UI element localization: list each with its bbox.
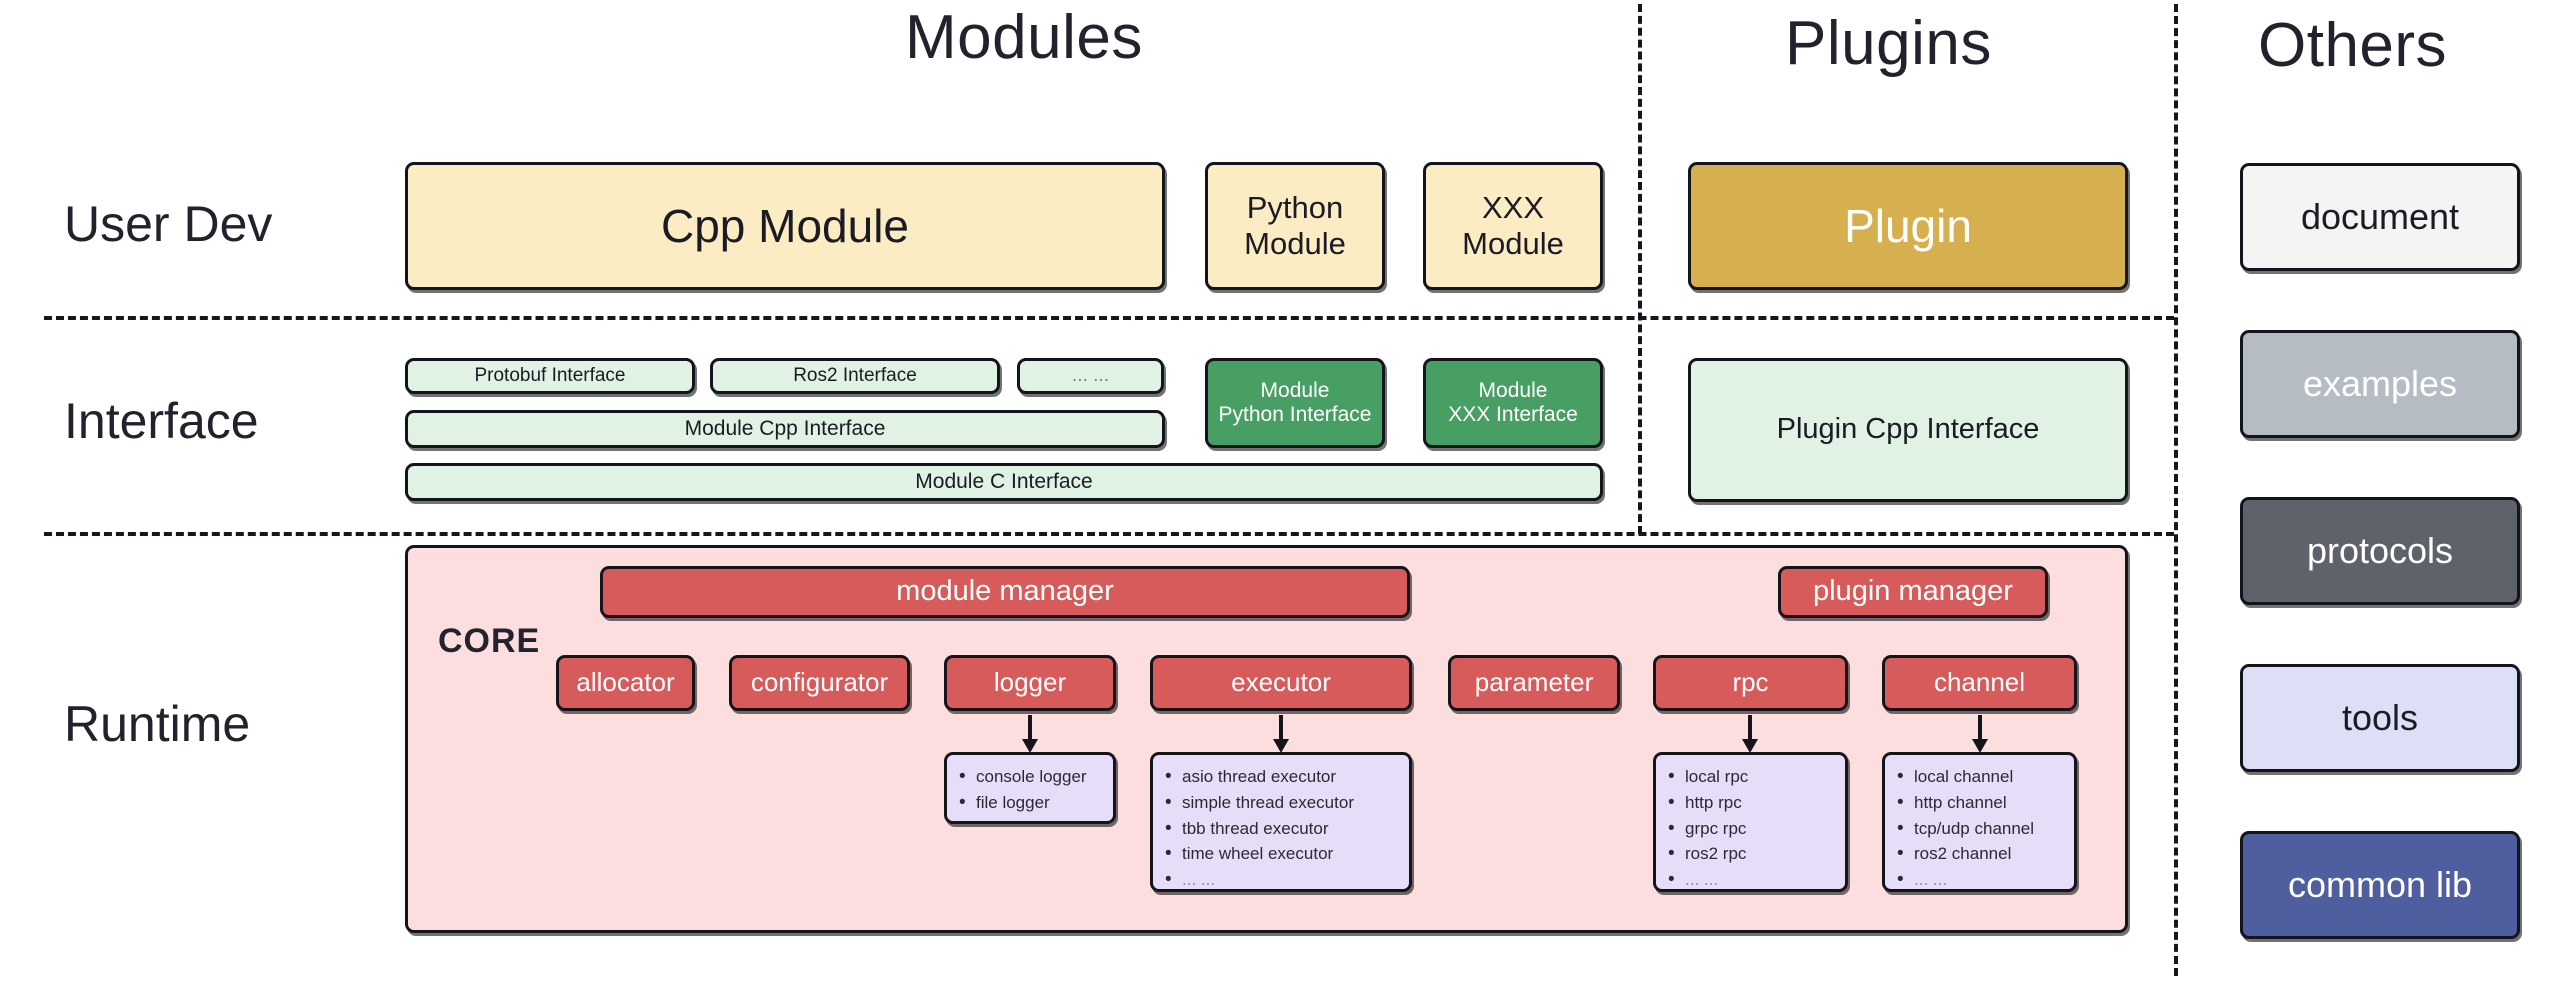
component-configurator-box[interactable]: configurator <box>729 655 910 711</box>
core-label: CORE <box>438 622 540 661</box>
divider-userdev-interface <box>44 316 2174 320</box>
rpc-list: local rpchttp rpcgrpc rpcros2 rpc... ... <box>1666 764 1835 893</box>
component-channel-box[interactable]: channel <box>1882 655 2077 711</box>
python-module-box[interactable]: Python Module <box>1205 162 1385 290</box>
list-item: tcp/udp channel <box>1895 816 2064 842</box>
list-item: simple thread executor <box>1163 790 1399 816</box>
module-cpp-interface-box[interactable]: Module Cpp Interface <box>405 410 1165 448</box>
component-executor-box[interactable]: executor <box>1150 655 1412 711</box>
row-header-user-dev: User Dev <box>64 195 272 253</box>
plugin-cpp-interface-box[interactable]: Plugin Cpp Interface <box>1688 358 2128 502</box>
cpp-module-box[interactable]: Cpp Module <box>405 162 1165 290</box>
others-common-lib-box[interactable]: common lib <box>2240 831 2520 939</box>
module-xxx-interface-box[interactable]: Module XXX Interface <box>1423 358 1603 448</box>
list-item: ... ... <box>1895 867 2064 893</box>
divider-interface-runtime <box>44 532 2174 536</box>
others-examples-box[interactable]: examples <box>2240 330 2520 438</box>
ros2-interface-box[interactable]: Ros2 Interface <box>710 358 1000 394</box>
list-item: http channel <box>1895 790 2064 816</box>
executor-list: asio thread executorsimple thread execut… <box>1163 764 1399 893</box>
plugin-manager-box[interactable]: plugin manager <box>1778 566 2048 618</box>
module-c-interface-box[interactable]: Module C Interface <box>405 463 1603 501</box>
list-item: ... ... <box>1666 867 1835 893</box>
executor-detail-list[interactable]: asio thread executorsimple thread execut… <box>1150 752 1412 892</box>
list-item: ros2 rpc <box>1666 841 1835 867</box>
more-interface-box[interactable]: ... ... <box>1017 358 1164 394</box>
component-parameter-box[interactable]: parameter <box>1448 655 1620 711</box>
list-item: console logger <box>957 764 1103 790</box>
list-item: http rpc <box>1666 790 1835 816</box>
list-item: local rpc <box>1666 764 1835 790</box>
logger-detail-list[interactable]: console loggerfile logger <box>944 752 1116 824</box>
divider-plugins-others <box>2174 4 2178 976</box>
list-item: grpc rpc <box>1666 816 1835 842</box>
list-item: ... ... <box>1163 867 1399 893</box>
list-item: file logger <box>957 790 1103 816</box>
xxx-module-box[interactable]: XXX Module <box>1423 162 1603 290</box>
list-item: local channel <box>1895 764 2064 790</box>
logger-list: console loggerfile logger <box>957 764 1103 816</box>
list-item: asio thread executor <box>1163 764 1399 790</box>
plugin-box[interactable]: Plugin <box>1688 162 2128 290</box>
column-header-others: Others <box>2258 10 2447 81</box>
protobuf-interface-box[interactable]: Protobuf Interface <box>405 358 695 394</box>
column-header-modules: Modules <box>905 2 1143 73</box>
module-python-interface-box[interactable]: Module Python Interface <box>1205 358 1385 448</box>
component-allocator-box[interactable]: allocator <box>556 655 695 711</box>
component-rpc-box[interactable]: rpc <box>1653 655 1848 711</box>
others-protocols-box[interactable]: protocols <box>2240 497 2520 605</box>
list-item: ros2 channel <box>1895 841 2064 867</box>
channel-detail-list[interactable]: local channelhttp channeltcp/udp channel… <box>1882 752 2077 892</box>
divider-modules-plugins <box>1638 4 1642 534</box>
others-document-box[interactable]: document <box>2240 163 2520 271</box>
channel-list: local channelhttp channeltcp/udp channel… <box>1895 764 2064 893</box>
arrow-executor-icon <box>1261 713 1301 755</box>
arrow-rpc-icon <box>1730 713 1770 755</box>
list-item: tbb thread executor <box>1163 816 1399 842</box>
component-logger-box[interactable]: logger <box>944 655 1116 711</box>
row-header-interface: Interface <box>64 392 259 450</box>
others-tools-box[interactable]: tools <box>2240 664 2520 772</box>
arrow-logger-icon <box>1010 713 1050 755</box>
list-item: time wheel executor <box>1163 841 1399 867</box>
rpc-detail-list[interactable]: local rpchttp rpcgrpc rpcros2 rpc... ... <box>1653 752 1848 892</box>
column-header-plugins: Plugins <box>1785 8 1992 79</box>
architecture-diagram: Modules Plugins Others User Dev Interfac… <box>0 0 2560 984</box>
arrow-channel-icon <box>1960 713 2000 755</box>
row-header-runtime: Runtime <box>64 695 250 753</box>
module-manager-box[interactable]: module manager <box>600 566 1410 618</box>
